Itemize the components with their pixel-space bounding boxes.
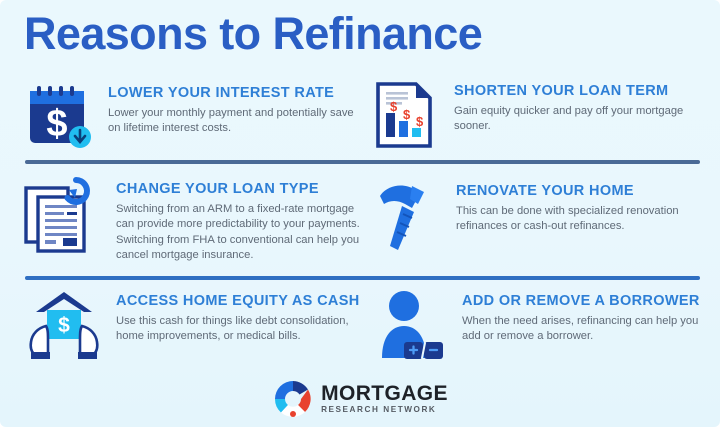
person-plus-minus-icon <box>374 288 450 362</box>
reason-card-renovate-home: RENOVATE YOUR HOME This can be done with… <box>372 178 712 258</box>
hammer-icon <box>372 178 442 258</box>
logo-tagline: RESEARCH NETWORK <box>321 406 448 414</box>
infographic-canvas: Reasons to Refinance $ LOWER YOUR INTERE… <box>0 0 720 427</box>
documents-refresh-icon <box>20 176 102 256</box>
reason-card-access-home-equity: $ ACCESS HOME EQUITY AS CASH Use this ca… <box>24 288 364 362</box>
reason-body: This can be done with specialized renova… <box>456 204 706 235</box>
reason-body: Switching from an ARM to a fixed-rate mo… <box>116 202 360 264</box>
reason-body: Lower your monthly payment and potential… <box>108 106 357 137</box>
section-divider-2 <box>25 276 700 280</box>
reason-title: SHORTEN YOUR LOAN TERM <box>454 83 704 100</box>
logo-name: MORTGAGE <box>321 383 448 404</box>
section-divider-1 <box>25 160 700 164</box>
reason-body: When the need arises, refinancing can he… <box>462 314 714 345</box>
reason-body: Use this cash for things like debt conso… <box>116 314 364 345</box>
calendar-dollar-down-icon: $ <box>22 80 96 154</box>
svg-text:$: $ <box>46 103 67 145</box>
reason-body: Gain equity quicker and pay off your mor… <box>454 104 704 135</box>
reason-card-add-remove-borrower: ADD OR REMOVE A BORROWER When the need a… <box>374 288 714 362</box>
page-title: Reasons to Refinance <box>24 6 482 62</box>
reason-title: CHANGE YOUR LOAN TYPE <box>116 181 360 198</box>
footer-logo[interactable]: MORTGAGE RESEARCH NETWORK <box>0 378 720 420</box>
svg-text:$: $ <box>58 314 70 337</box>
house-dollar-in-hands-icon: $ <box>24 288 104 362</box>
svg-text:$: $ <box>390 99 398 114</box>
reason-card-shorten-loan-term: $ $ $ SHORTEN YOUR LOAN TERM Gain equity… <box>368 78 713 152</box>
reason-card-lower-interest-rate: $ LOWER YOUR INTEREST RATE Lower your mo… <box>22 80 357 154</box>
reason-title: ADD OR REMOVE A BORROWER <box>462 293 714 310</box>
svg-text:$: $ <box>416 114 424 129</box>
reason-title: LOWER YOUR INTEREST RATE <box>108 85 357 102</box>
gauge-logo-icon <box>272 378 314 420</box>
reason-title: ACCESS HOME EQUITY AS CASH <box>116 293 364 310</box>
reason-title: RENOVATE YOUR HOME <box>456 183 706 200</box>
document-bar-chart-dollar-icon: $ $ $ <box>368 78 442 152</box>
svg-text:$: $ <box>403 107 411 122</box>
reason-card-change-loan-type: CHANGE YOUR LOAN TYPE Switching from an … <box>20 176 360 263</box>
